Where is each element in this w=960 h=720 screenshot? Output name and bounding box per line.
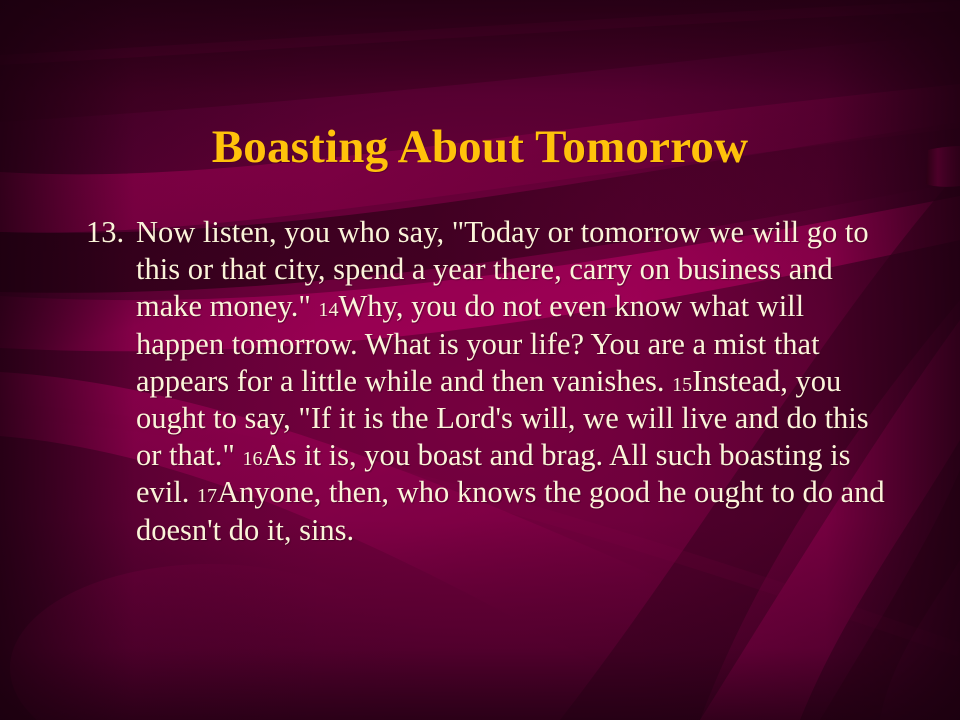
verse-number-15: 15 [672, 374, 692, 396]
slide-body: 13.Now listen, you who say, "Today or to… [86, 214, 892, 549]
list-number: 13. [86, 214, 124, 251]
scripture-paragraph: 13.Now listen, you who say, "Today or to… [86, 214, 892, 549]
presentation-slide: Boasting About Tomorrow 13.Now listen, y… [0, 0, 960, 720]
verse-number-14: 14 [318, 299, 338, 321]
verse-number-16: 16 [242, 448, 262, 470]
verse-text-17: Anyone, then, who knows the good he ough… [136, 475, 885, 546]
slide-content: Boasting About Tomorrow 13.Now listen, y… [0, 0, 960, 720]
verse-number-17: 17 [197, 485, 217, 507]
slide-title: Boasting About Tomorrow [0, 123, 960, 173]
